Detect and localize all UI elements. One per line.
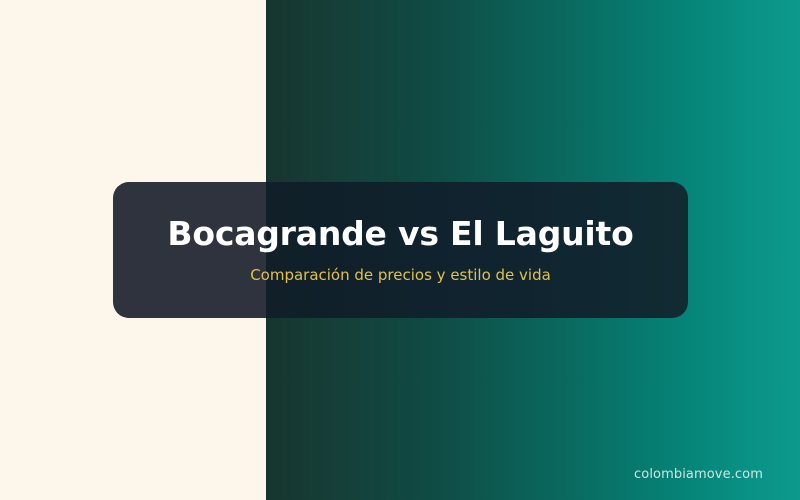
card-content: Bocagrande vs El Laguito Comparación de … (113, 216, 688, 285)
banner-subtitle: Comparación de precios y estilo de vida (131, 266, 670, 284)
title-card: Bocagrande vs El Laguito Comparación de … (113, 182, 688, 318)
site-watermark: colombiamove.com (634, 467, 763, 482)
promo-banner: Bocagrande vs El Laguito Comparación de … (0, 0, 800, 500)
banner-title: Bocagrande vs El Laguito (131, 216, 670, 253)
